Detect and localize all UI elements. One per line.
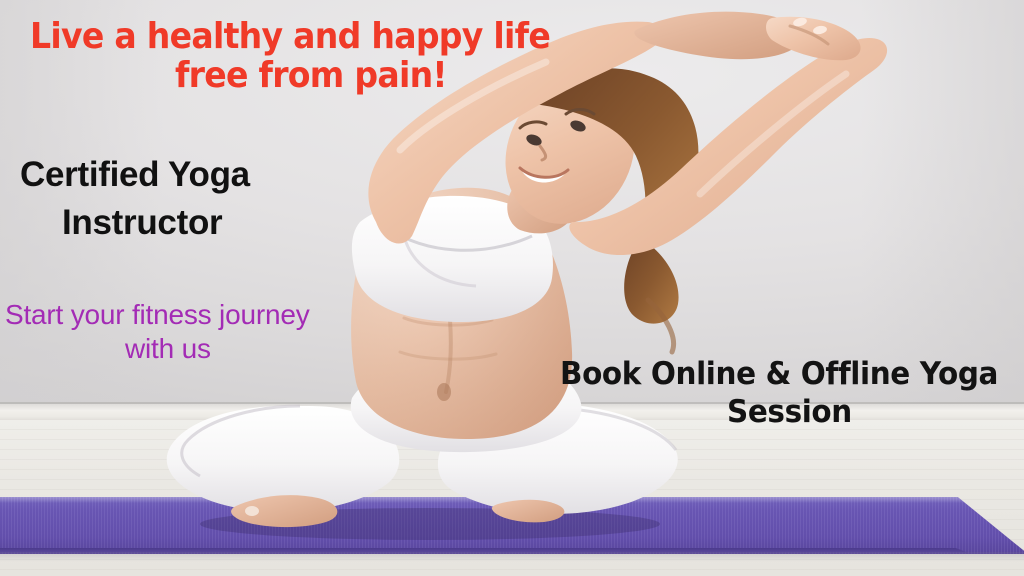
yoga-model-illustration	[0, 0, 1024, 576]
headline-line-2: free from pain!	[175, 57, 447, 96]
subheading-line-1: Certified Yoga	[20, 156, 250, 194]
booking-note-line-2: Session	[727, 396, 852, 429]
booking-note-line-1: Book Online & Offline Yoga	[560, 358, 998, 391]
tagline-line-1: Start your fitness journey	[5, 300, 310, 330]
tagline-line-2: with us	[125, 334, 211, 364]
subheading-line-2: Instructor	[62, 204, 222, 242]
yoga-promotional-banner: Live a healthy and happy life free from …	[0, 0, 1024, 576]
headline-line-1: Live a healthy and happy life	[30, 18, 550, 57]
